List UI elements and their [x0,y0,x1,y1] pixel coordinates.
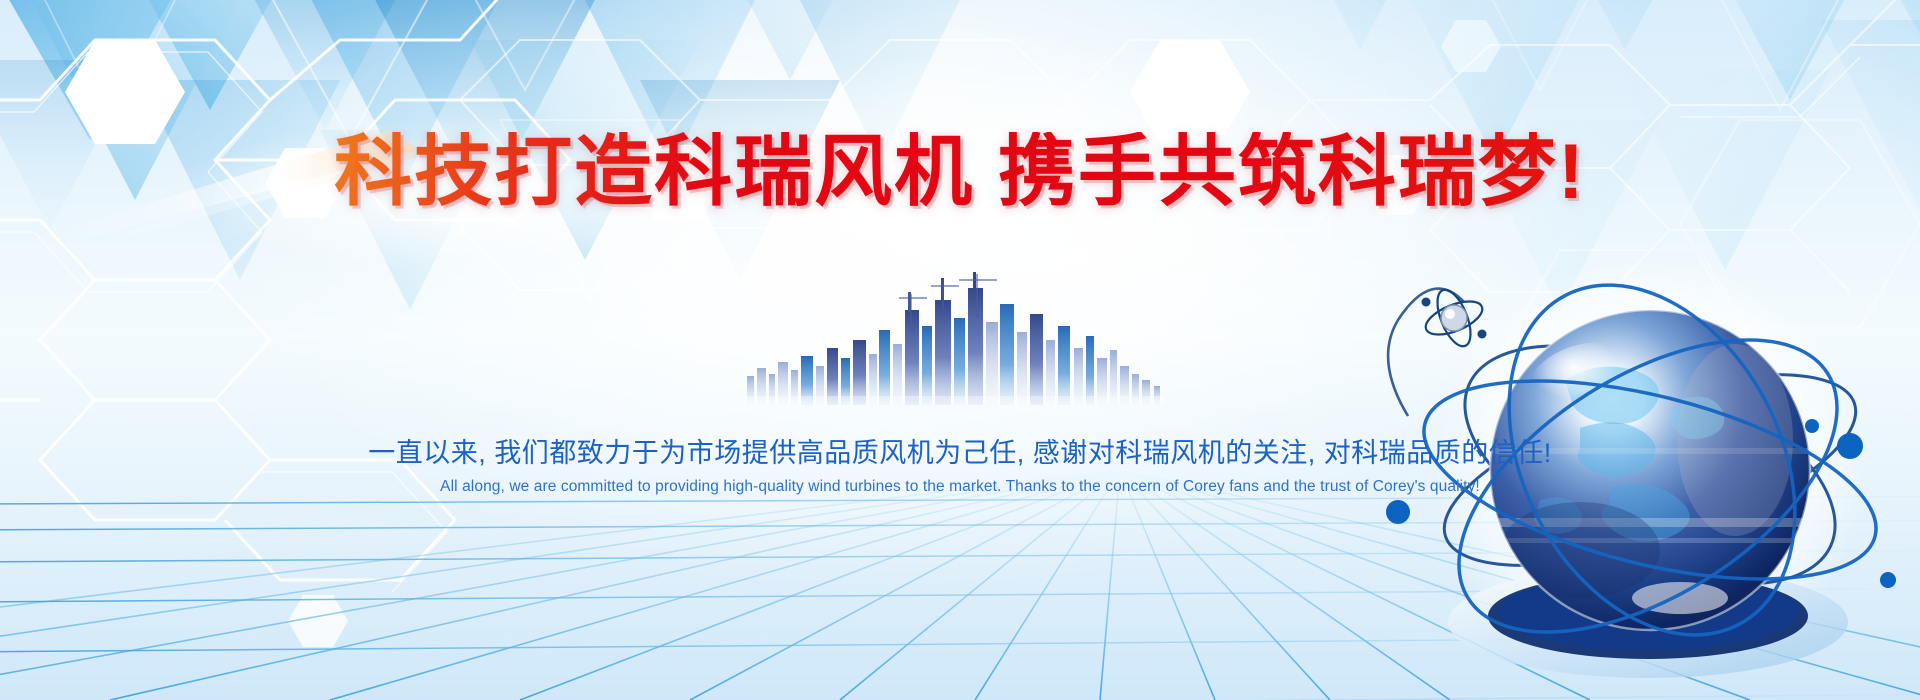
hero-banner: 科技打造科瑞风机 携手共筑科瑞梦! 一直以来, 我们都致力于为市场提供高品质风机… [0,0,1920,700]
page-title: 科技打造科瑞风机 携手共筑科瑞梦! [0,132,1920,210]
glass-globe-graphic [1380,250,1920,700]
subtitle-chinese: 一直以来, 我们都致力于为市场提供高品质风机为己任, 感谢对科瑞风机的关注, 对… [0,437,1920,471]
city-skyline-silhouette [745,270,1165,405]
subtitle-english: All along, we are committed to providing… [0,477,1920,497]
headline-text: 科技打造科瑞风机 携手共筑科瑞梦! [334,132,1586,210]
atom-icon [1421,285,1486,350]
